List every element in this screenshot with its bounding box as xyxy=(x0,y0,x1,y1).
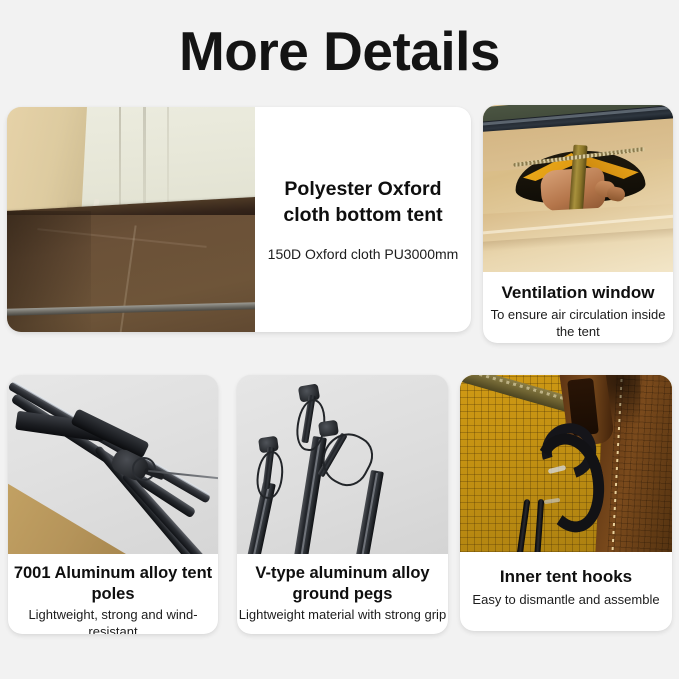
ground-pegs-subtitle: Lightweight material with strong grip xyxy=(237,607,448,624)
tent-poles-subtitle: Lightweight, strong and wind-resistant xyxy=(8,607,218,634)
page-title: More Details xyxy=(0,18,679,84)
card-tent-poles[interactable]: 7001 Aluminum alloy tent poles Lightweig… xyxy=(8,375,218,634)
card-ventilation-window[interactable]: Ventilation window To ensure air circula… xyxy=(483,105,673,343)
inner-tent-hooks-title: Inner tent hooks xyxy=(460,566,672,588)
card-bottom-tent[interactable]: Polyester Oxford cloth bottom tent 150D … xyxy=(7,107,471,332)
card-ground-pegs[interactable]: V-type aluminum alloy ground pegs Lightw… xyxy=(237,375,448,634)
card-inner-tent-hooks[interactable]: Inner tent hooks Easy to dismantle and a… xyxy=(460,375,672,631)
ventilation-window-photo xyxy=(483,105,673,272)
bottom-tent-title: Polyester Oxford cloth bottom tent xyxy=(261,176,465,228)
bottom-tent-caption: Polyester Oxford cloth bottom tent 150D … xyxy=(255,107,471,332)
ventilation-title: Ventilation window xyxy=(483,282,673,304)
ground-pegs-photo xyxy=(237,375,448,554)
inner-tent-hooks-caption: Inner tent hooks Easy to dismantle and a… xyxy=(460,552,672,631)
ground-pegs-caption: V-type aluminum alloy ground pegs Lightw… xyxy=(237,554,448,634)
ground-pegs-title: V-type aluminum alloy ground pegs xyxy=(237,563,448,605)
inner-tent-hooks-subtitle: Easy to dismantle and assemble xyxy=(460,591,672,608)
bottom-tent-photo xyxy=(7,107,255,332)
tent-poles-photo xyxy=(8,375,218,554)
bottom-tent-subtitle: 150D Oxford cloth PU3000mm xyxy=(268,244,459,264)
ground-peg-head xyxy=(318,420,339,437)
ventilation-subtitle: To ensure air circulation inside the ten… xyxy=(483,306,673,340)
ventilation-caption: Ventilation window To ensure air circula… xyxy=(483,272,673,343)
tent-poles-caption: 7001 Aluminum alloy tent poles Lightweig… xyxy=(8,554,218,634)
inner-tent-hooks-photo xyxy=(460,375,672,552)
tent-poles-title: 7001 Aluminum alloy tent poles xyxy=(8,563,218,605)
